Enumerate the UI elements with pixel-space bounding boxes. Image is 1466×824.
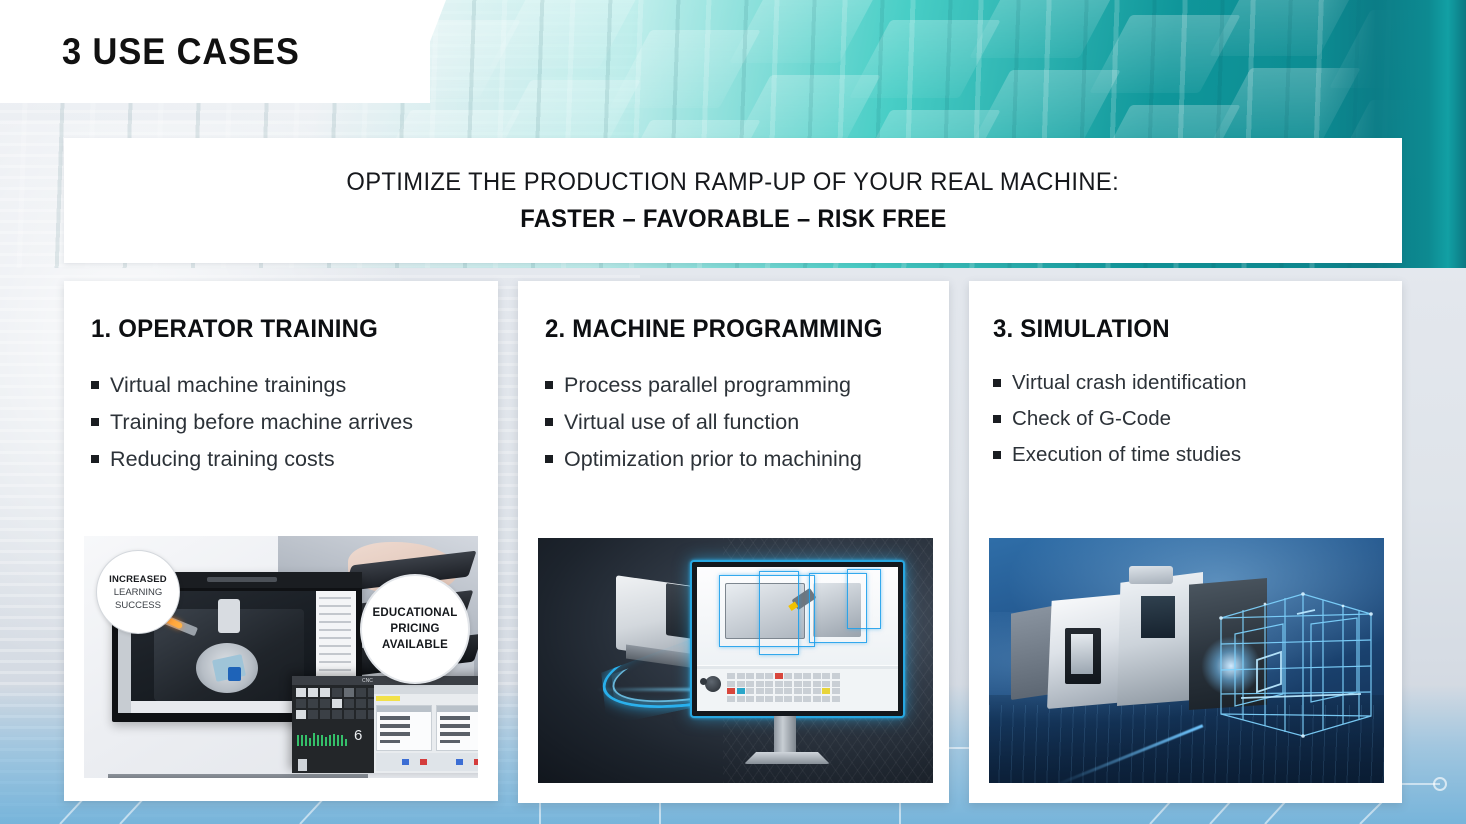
list-item: Reducing training costs — [91, 441, 498, 478]
page-title: 3 USE CASES — [62, 30, 300, 74]
monitor-stand — [774, 716, 796, 758]
panel-counter: 6 — [354, 727, 362, 744]
badge-line: INCREASED — [109, 573, 167, 586]
sim-viewport — [697, 567, 898, 665]
list-item: Training before machine arrives — [91, 404, 498, 441]
card-3-title: 3. SIMULATION — [993, 314, 1170, 344]
sim-bottom-toolbar — [131, 701, 316, 713]
panel-right-readout — [374, 685, 478, 773]
bullet-text: Check of G-Code — [1012, 401, 1171, 437]
bullet-text: Execution of time studies — [1012, 437, 1241, 473]
square-bullet-icon — [545, 381, 553, 389]
badge-educational-pricing-available: EDUCATIONAL PRICING AVAILABLE — [360, 574, 470, 684]
cnc-control-panel: CNC 6 — [292, 676, 478, 773]
cnc-key-grid — [727, 673, 840, 702]
bullet-text: Virtual use of all function — [564, 404, 799, 441]
bullet-text: Process parallel programming — [564, 367, 851, 404]
readout-column — [376, 705, 432, 751]
card-2-bullet-list: Process parallel programming Virtual use… — [545, 367, 949, 478]
machine-window — [1071, 634, 1093, 674]
panel-key-grid — [296, 688, 378, 719]
list-item: Virtual crash identification — [993, 365, 1402, 401]
list-item: Process parallel programming — [545, 367, 949, 404]
badge-line: LEARNING — [114, 586, 163, 599]
list-item: Virtual use of all function — [545, 404, 949, 441]
bullet-text: Training before machine arrives — [110, 404, 413, 441]
panel-left-keypad: 6 — [292, 685, 374, 773]
square-bullet-icon — [993, 415, 1001, 423]
headline-box: OPTIMIZE THE PRODUCTION RAMP-UP OF YOUR … — [64, 138, 1402, 263]
sim-bounding-box — [759, 571, 799, 655]
sim-bounding-box — [847, 569, 881, 629]
list-item: Execution of time studies — [993, 437, 1402, 473]
square-bullet-icon — [993, 451, 1001, 459]
readout-columns — [376, 705, 478, 751]
card-2-title: 2. MACHINE PROGRAMMING — [545, 314, 883, 344]
monitor-screen — [697, 567, 898, 711]
list-item: Optimization prior to machining — [545, 441, 949, 478]
badge-line: AVAILABLE — [382, 637, 448, 653]
badge-line: SUCCESS — [115, 599, 161, 612]
card-3-bullet-list: Virtual crash identification Check of G-… — [993, 365, 1402, 473]
badge-increased-learning-success: INCREASED LEARNING SUCCESS — [96, 550, 180, 634]
laptop-base — [108, 774, 368, 778]
readout-header — [374, 685, 478, 694]
bullet-text: Virtual crash identification — [1012, 365, 1247, 401]
bullet-text: Virtual machine trainings — [110, 367, 346, 404]
readout-column — [436, 705, 478, 751]
use-case-card-3[interactable]: 3. SIMULATION Virtual crash identificati… — [969, 281, 1402, 803]
laptop-titlebar — [207, 577, 277, 582]
machine-top-unit — [1129, 566, 1173, 584]
list-item: Check of G-Code — [993, 401, 1402, 437]
card-3-image: CNC machining center transitioning into … — [989, 538, 1384, 783]
headline-line-1: OPTIMIZE THE PRODUCTION RAMP-UP OF YOUR … — [347, 166, 1120, 198]
desktop-monitor — [690, 560, 905, 718]
list-item: Virtual machine trainings — [91, 367, 498, 404]
card-2-image: Desktop monitor displaying CNC control s… — [538, 538, 933, 783]
square-bullet-icon — [993, 379, 1001, 387]
badge-line: PRICING — [390, 621, 439, 637]
machine-rear-window — [1141, 596, 1175, 638]
use-case-card-2[interactable]: 2. MACHINE PROGRAMMING Process parallel … — [518, 281, 949, 803]
square-bullet-icon — [545, 418, 553, 426]
digital-twin-wireframe — [1211, 574, 1377, 738]
panel-load-bars — [297, 733, 347, 746]
square-bullet-icon — [91, 418, 99, 426]
headline-line-2: FASTER – FAVORABLE – RISK FREE — [520, 202, 946, 236]
square-bullet-icon — [91, 455, 99, 463]
use-case-card-1[interactable]: 1. OPERATOR TRAINING Virtual machine tra… — [64, 281, 498, 801]
cnc-keyboard-panel — [697, 669, 898, 711]
sim-workpiece-detail — [228, 667, 241, 681]
bullet-text: Optimization prior to machining — [564, 441, 862, 478]
bullet-text: Reducing training costs — [110, 441, 335, 478]
badge-line: EDUCATIONAL — [372, 605, 457, 621]
document-icon — [298, 759, 307, 771]
emergency-button-icon — [700, 678, 707, 685]
slide-canvas: 3 USE CASES OPTIMIZE THE PRODUCTION RAMP… — [0, 0, 1466, 824]
panel-header: CNC — [292, 676, 478, 685]
sim-machine-head — [218, 599, 240, 633]
readout-highlight — [376, 696, 400, 701]
monitor-foot — [744, 752, 830, 764]
jog-dial-icon — [705, 676, 721, 692]
card-1-bullet-list: Virtual machine trainings Training befor… — [91, 367, 498, 478]
square-bullet-icon — [545, 455, 553, 463]
square-bullet-icon — [91, 381, 99, 389]
card-1-title: 1. OPERATOR TRAINING — [91, 314, 378, 344]
card-1-image: CNC 6 — [84, 536, 478, 778]
readout-footer — [376, 753, 478, 771]
